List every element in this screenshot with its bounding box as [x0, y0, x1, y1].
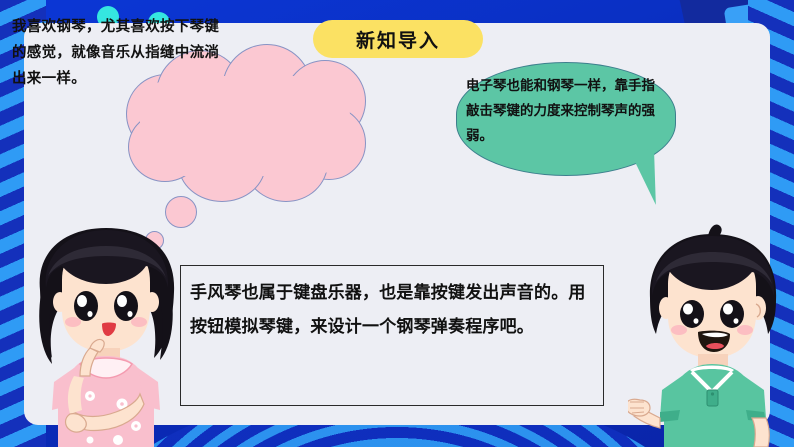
girl-character [18, 218, 194, 447]
boy-character [628, 222, 794, 447]
thought-bubble-text: 我喜欢钢琴，尤其喜欢按下琴键的感觉，就像音乐从指缝中流淌出来一样。 [12, 14, 226, 92]
speech-bubble-text: 电子琴也能和钢琴一样，靠手指敲击琴键的力度来控制琴声的强弱。 [466, 74, 666, 149]
slide-root: 新知导入 我喜欢钢琴，尤其喜欢按下琴键的感觉，就像音乐从指缝中流淌出来一样。 电… [0, 0, 794, 447]
title-badge-label: 新知导入 [356, 26, 440, 53]
narration-box-text: 手风琴也属于键盘乐器，也是靠按键发出声音的。用按钮模拟琴键，来设计一个钢琴弹奏程… [190, 276, 598, 344]
